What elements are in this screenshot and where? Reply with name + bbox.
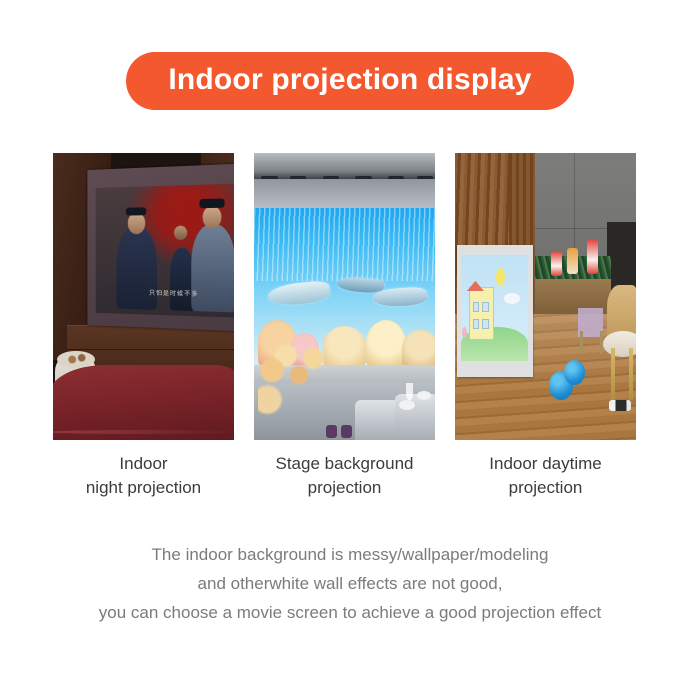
- table-plate: [399, 400, 415, 410]
- product-infographic-page: Indoor projection display: [0, 0, 700, 700]
- photo-panel-indoor-daytime[interactable]: [455, 153, 636, 440]
- caption-line-2: projection: [254, 476, 435, 500]
- projected-fish: [268, 280, 331, 307]
- drama-figure-hat: [200, 199, 225, 209]
- caption-stage-background: Stage background projection: [254, 452, 435, 500]
- table-leg: [611, 348, 616, 400]
- holiday-decoration: [587, 239, 598, 273]
- caption-line-1: Indoor: [53, 452, 234, 476]
- flower-arrangement: [258, 331, 338, 429]
- ceiling-truss: [254, 153, 435, 179]
- photo-panel-row: 只怕是时候不多: [53, 153, 647, 440]
- caption-line-1: Stage background: [254, 452, 435, 476]
- stage-header-strip: [254, 179, 435, 208]
- footer-line-2: and otherwhite wall effects are not good…: [0, 569, 700, 598]
- bed-fold: [53, 430, 234, 434]
- projection-screen: 只怕是时候不多: [87, 164, 234, 331]
- holiday-decoration: [567, 248, 578, 274]
- table-leg: [629, 348, 634, 400]
- footer-line-3: you can choose a movie screen to achieve…: [0, 598, 700, 627]
- projected-coral: [402, 330, 435, 369]
- drama-figure-hat: [126, 207, 146, 215]
- title-banner: Indoor projection display: [126, 52, 573, 110]
- title-banner-container: Indoor projection display: [0, 52, 700, 110]
- projected-coral: [366, 320, 406, 368]
- drama-figure-head: [127, 213, 145, 235]
- footer-line-1: The indoor background is messy/wallpaper…: [0, 540, 700, 569]
- projection-screen: [457, 245, 533, 377]
- caption-row: Indoor night projection Stage background…: [53, 452, 647, 500]
- caption-line-2: night projection: [53, 476, 234, 500]
- movie-subtitle: 只怕是时候不多: [149, 291, 223, 305]
- drawn-window: [473, 302, 480, 312]
- drawn-window: [482, 319, 489, 329]
- wine-glass: [406, 383, 413, 400]
- holiday-decoration: [551, 251, 562, 277]
- photo-panel-indoor-night[interactable]: 只怕是时候不多: [53, 153, 234, 440]
- drama-figure-head: [174, 226, 187, 240]
- cabinet-seam: [67, 349, 234, 350]
- shoe: [609, 400, 631, 411]
- drawn-window: [473, 319, 480, 329]
- projected-movie-image: 只怕是时候不多: [96, 184, 234, 318]
- scene-indoor-night: 只怕是时候不多: [53, 153, 234, 440]
- scene-stage-background: [254, 153, 435, 440]
- light-rays: [254, 208, 435, 282]
- red-bed: [53, 365, 234, 440]
- caption-indoor-daytime: Indoor daytime projection: [455, 452, 636, 500]
- table-plate: [417, 391, 431, 400]
- projected-drawing-image: [461, 255, 528, 361]
- drawn-sun: [496, 268, 505, 286]
- drawn-roof: [467, 281, 484, 292]
- caption-line-1: Indoor daytime: [455, 452, 636, 476]
- banquet-chair: [341, 425, 352, 438]
- page-title: Indoor projection display: [168, 62, 531, 98]
- scene-indoor-daytime: [455, 153, 636, 440]
- drawn-window: [482, 302, 489, 312]
- footer-description: The indoor background is messy/wallpaper…: [0, 540, 700, 627]
- stool-leg: [580, 331, 584, 354]
- drawn-house: [469, 287, 494, 340]
- drawn-cloud: [504, 293, 520, 304]
- caption-indoor-night: Indoor night projection: [53, 452, 234, 500]
- caption-line-2: projection: [455, 476, 636, 500]
- photo-panel-stage-background[interactable]: [254, 153, 435, 440]
